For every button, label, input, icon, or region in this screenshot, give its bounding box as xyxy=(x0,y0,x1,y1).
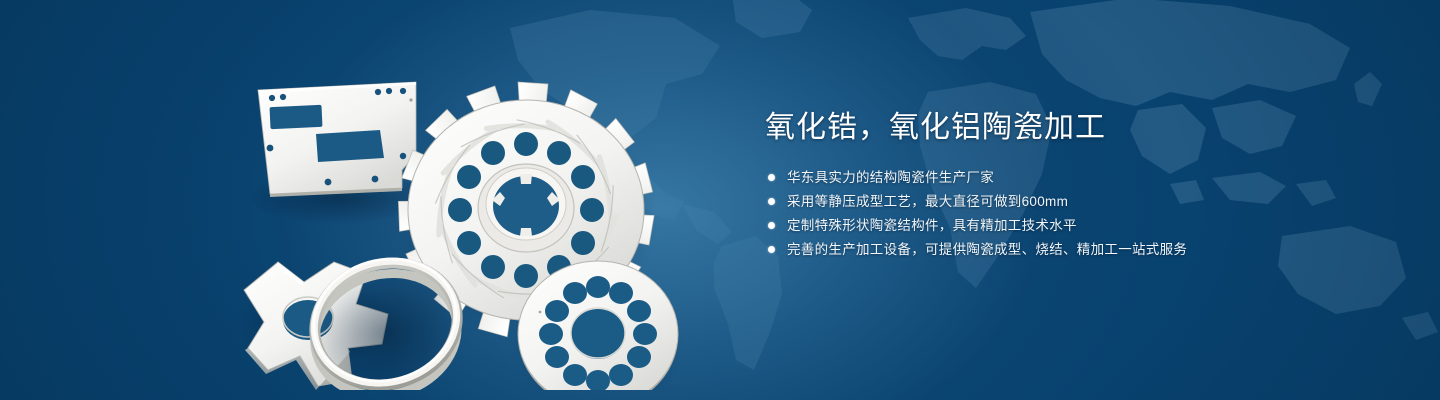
bullet-dot-icon xyxy=(768,174,775,181)
bullet-dot-icon xyxy=(768,246,775,253)
hero-banner: 氧化锆，氧化铝陶瓷加工 华东具实力的结构陶瓷件生产厂家 采用等静压成型工艺，最大… xyxy=(0,0,1440,400)
feature-list: 华东具实力的结构陶瓷件生产厂家 采用等静压成型工艺，最大直径可做到600mm 定… xyxy=(765,166,1385,261)
list-item: 定制特殊形状陶瓷结构件，具有精加工技术水平 xyxy=(765,214,1385,237)
list-item: 完善的生产加工设备，可提供陶瓷成型、烧结、精加工一站式服务 xyxy=(765,238,1385,261)
feature-text: 定制特殊形状陶瓷结构件，具有精加工技术水平 xyxy=(787,214,1077,237)
list-item: 采用等静压成型工艺，最大直径可做到600mm xyxy=(765,190,1385,213)
banner-copy: 氧化锆，氧化铝陶瓷加工 华东具实力的结构陶瓷件生产厂家 采用等静压成型工艺，最大… xyxy=(765,108,1385,262)
list-item: 华东具实力的结构陶瓷件生产厂家 xyxy=(765,166,1385,189)
feature-text: 华东具实力的结构陶瓷件生产厂家 xyxy=(787,166,994,189)
feature-text: 完善的生产加工设备，可提供陶瓷成型、烧结、精加工一站式服务 xyxy=(787,238,1187,261)
bullet-dot-icon xyxy=(768,198,775,205)
product-photo-collage xyxy=(230,38,700,390)
feature-text: 采用等静压成型工艺，最大直径可做到600mm xyxy=(787,190,1068,213)
page-title: 氧化锆，氧化铝陶瓷加工 xyxy=(765,108,1385,148)
bullet-dot-icon xyxy=(768,222,775,229)
